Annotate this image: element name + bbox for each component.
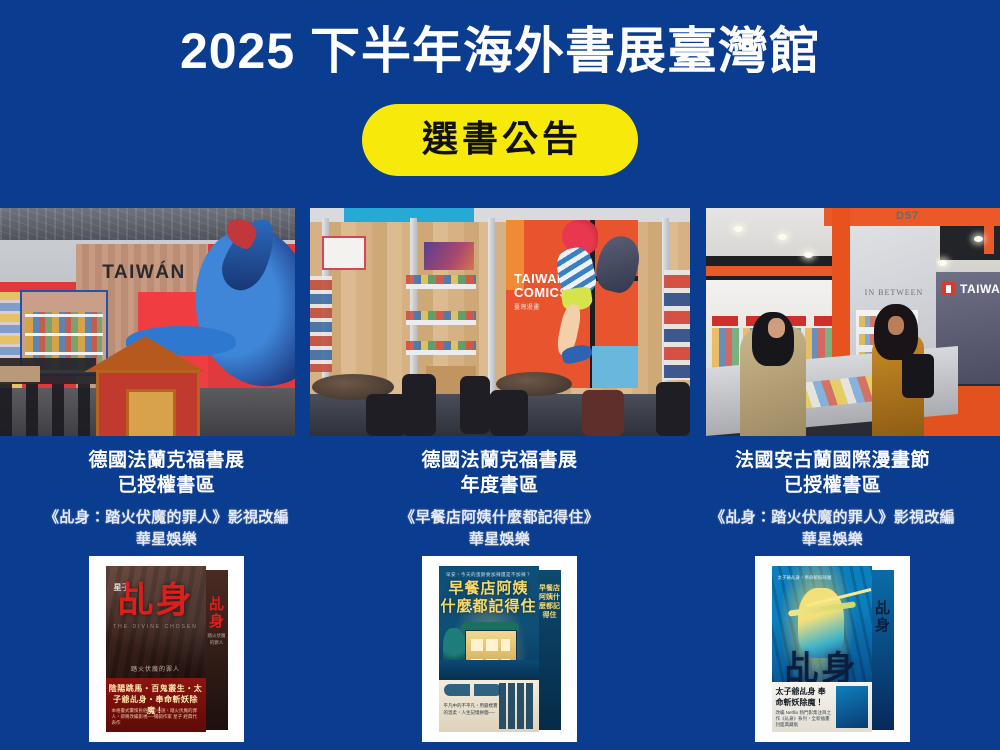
- cover-water: [439, 660, 539, 680]
- publisher-name-1: 華星娛樂: [0, 529, 333, 551]
- booth-chair: [460, 376, 490, 434]
- book-cover-card-3[interactable]: 乩身 太子爺乩身，奉命斬妖除魔 乩身 太子爺乩身 奉命斬妖除魔！ 改編 Netf…: [755, 556, 910, 742]
- obi-thumbnail-3: [836, 686, 868, 728]
- book-spine-3: 乩身: [872, 570, 894, 730]
- booth-chair: [402, 374, 436, 436]
- book-title-line-1: 《乩身：踏火伏魔的罪人》影視改編: [0, 507, 333, 529]
- book-cover-row: 乩身 踏火伏魔的罪人 星子 乩身 THE DIVINE CHOSEN 踏火伏魔的…: [0, 556, 1000, 750]
- spine-title-3: 乩身: [872, 600, 894, 634]
- banner-blue-block: [592, 346, 638, 388]
- publisher-name-2: 華星娛樂: [333, 529, 666, 551]
- ceiling-spotlight: [974, 236, 983, 242]
- book-title-line-1: 早餐店阿姨: [439, 580, 539, 598]
- booth-scene-1: TAIWÁN: [0, 208, 295, 436]
- booth-chair: [490, 390, 528, 436]
- book-header-note-2: 早安，今天的蛋餅要加辣還是不加辣？: [439, 572, 539, 578]
- book-title-line-2: 《早餐店阿姨什麼都記得住》: [333, 507, 666, 529]
- fair-name-line-2: 已授權書區: [666, 473, 999, 498]
- obi-subtext-3: 改編 Netflix 熱門影集注目之作《乩身》系列，全新插畫封面典藏版: [776, 710, 834, 728]
- obi-subtext-1: 本格臺式驚悚民俗奇幻小說，踏火伏魔的罪人，即將改編影視──暢銷作家 星子 經典代…: [112, 708, 200, 726]
- book-spine-1: 乩身 踏火伏魔的罪人: [206, 570, 228, 730]
- book-obi-3: 太子爺乩身 奉命斬妖除魔！ 改編 Netflix 熱門影集注目之作《乩身》系列，…: [772, 682, 872, 732]
- taiwan-comics-sign-sub: 臺灣漫畫: [514, 302, 540, 311]
- in-between-sign: IN BETWEEN: [856, 288, 932, 297]
- ceiling-spotlight: [778, 234, 787, 240]
- book-front-3: 太子爺乩身，奉命斬妖除魔 乩身 太子爺乩身 奉命斬妖除魔！ 改編 Netflix…: [772, 566, 872, 732]
- booth-number-sign: D57: [896, 210, 919, 222]
- booth-scene-3: D57 IN BETWEEN TAIWAN: [706, 208, 1000, 436]
- book-front-1: 星子 乩身 THE DIVINE CHOSEN 踏火伏魔的罪人 陰陽跳馬・百鬼叢…: [106, 566, 206, 732]
- booth-chair: [656, 382, 690, 436]
- book-cover-card-2[interactable]: 早餐店阿姨什麼都記得住 早安，今天的蛋餅要加辣還是不加辣？ 早餐店阿姨 什麼都記…: [422, 556, 577, 742]
- poster-header: 2025 下半年海外書展臺灣館 選書公告: [0, 0, 1000, 200]
- house-roof: [84, 336, 206, 372]
- badge-container: 選書公告: [0, 104, 1000, 176]
- visitor-face: [888, 316, 904, 335]
- shelf-rail: [406, 350, 476, 355]
- book-3d-3: 乩身 太子爺乩身，奉命斬妖除魔 乩身 太子爺乩身 奉命斬妖除魔！ 改編 Netf…: [772, 566, 894, 732]
- taiwan-logo-icon: [942, 282, 955, 295]
- fair-name-line-2: 年度書區: [333, 473, 666, 498]
- spine-title-2: 早餐店阿姨什麼都記得住: [539, 584, 561, 620]
- page-title: 2025 下半年海外書展臺灣館: [0, 22, 1000, 80]
- book-spine-2: 早餐店阿姨什麼都記得住: [539, 570, 561, 730]
- shelf-rail: [25, 314, 103, 317]
- fair-name-line-2: 已授權書區: [0, 473, 333, 498]
- taiwan-booth-sign: TAIWÁN: [84, 262, 204, 284]
- house-door: [126, 389, 176, 436]
- photo-strip: TAIWÁN: [0, 208, 1000, 436]
- obi-badges-2: [444, 684, 502, 696]
- orange-beam: [984, 224, 994, 254]
- cover-window: [486, 639, 498, 651]
- booth-post: [488, 218, 495, 404]
- caption-block-2: 德國法蘭克福書展 年度書區 《早餐店阿姨什麼都記得住》 華星娛樂: [333, 448, 666, 551]
- book-title-line-3: 《乩身：踏火伏魔的罪人》影視改編: [666, 507, 999, 529]
- shelf-comics: [406, 311, 476, 320]
- visitor-face: [768, 318, 785, 338]
- booth-chair: [366, 394, 406, 436]
- book-3d-1: 乩身 踏火伏魔的罪人 星子 乩身 THE DIVINE CHOSEN 踏火伏魔的…: [106, 566, 228, 732]
- cover-window: [471, 639, 483, 651]
- fair-name-line-1: 法國安古蘭國際漫畫節: [666, 448, 999, 473]
- left-magazine-rack: [310, 276, 332, 372]
- book-obi-2: 平凡中的不平凡，用最樸實的溫柔，人生記憶拼圖──: [439, 680, 539, 732]
- caption-row: 德國法蘭克福書展 已授權書區 《乩身：踏火伏魔的罪人》影視改編 華星娛樂 德國法…: [0, 448, 1000, 558]
- booth-chair: [582, 390, 624, 436]
- obi-text-3: 太子爺乩身 奉命斬妖除魔！: [776, 686, 834, 708]
- book-cover-card-1[interactable]: 乩身 踏火伏魔的罪人 星子 乩身 THE DIVINE CHOSEN 踏火伏魔的…: [89, 556, 244, 742]
- wall-poster-purple: [424, 242, 474, 270]
- fair-name-3: 法國安古蘭國際漫畫節 已授權書區: [666, 448, 999, 498]
- book-front-2: 早安，今天的蛋餅要加辣還是不加辣？ 早餐店阿姨 什麼都記得住: [439, 566, 539, 732]
- caption-block-3: 法國安古蘭國際漫畫節 已授權書區 《乩身：踏火伏魔的罪人》影視改編 華星娛樂: [666, 448, 999, 551]
- announcement-badge[interactable]: 選書公告: [362, 104, 638, 176]
- shelf-rail: [406, 284, 476, 289]
- booth-photo-frankfurt-annual[interactable]: TAIWAN COMICS 臺灣漫畫: [310, 208, 690, 436]
- shelf-comics: [406, 341, 476, 350]
- red-house-display: [84, 336, 206, 436]
- right-magazine-rack: [664, 270, 690, 380]
- obi-text-2: 平凡中的不平凡，用最樸實的溫柔，人生記憶拼圖──: [444, 702, 500, 716]
- cover-window: [501, 639, 510, 651]
- fair-name-1: 德國法蘭克福書展 已授權書區: [0, 448, 333, 498]
- orange-beam: [706, 266, 846, 276]
- book-cover-slot-2: 早餐店阿姨什麼都記得住 早安，今天的蛋餅要加辣還是不加辣？ 早餐店阿姨 什麼都記…: [333, 556, 666, 750]
- book-english-title-1: THE DIVINE CHOSEN: [106, 624, 206, 630]
- book-cover-slot-1: 乩身 踏火伏魔的罪人 星子 乩身 THE DIVINE CHOSEN 踏火伏魔的…: [0, 556, 333, 750]
- book-obi-1: 陰陽跳馬・百鬼叢生・太子爺乩身・奉命斬妖除魔！ 本格臺式驚悚民俗奇幻小說，踏火伏…: [106, 678, 206, 732]
- booth-table: [0, 366, 40, 382]
- fair-name-line-1: 德國法蘭克福書展: [0, 448, 333, 473]
- booth-scene-2: TAIWAN COMICS 臺灣漫畫: [310, 208, 690, 436]
- spine-subtitle-1: 踏火伏魔的罪人: [206, 632, 228, 646]
- caption-block-1: 德國法蘭克福書展 已授權書區 《乩身：踏火伏魔的罪人》影視改編 華星娛樂: [0, 448, 333, 551]
- shelf-rail: [406, 320, 476, 325]
- book-title-2: 早餐店阿姨 什麼都記得住: [439, 580, 539, 616]
- book-cover-slot-3: 乩身 太子爺乩身，奉命斬妖除魔 乩身 太子爺乩身 奉命斬妖除魔！ 改編 Netf…: [666, 556, 999, 750]
- wall-poster-small: [322, 236, 366, 270]
- publisher-name-3: 華星娛樂: [666, 529, 999, 551]
- ceiling-spotlight: [938, 260, 947, 266]
- shelf-comics: [406, 275, 476, 284]
- booth-photo-angouleme[interactable]: D57 IN BETWEEN TAIWAN: [706, 208, 1000, 436]
- book-header-note-3: 太子爺乩身，奉命斬妖除魔: [778, 574, 832, 581]
- book-subtitle-1: 踏火伏魔的罪人: [106, 664, 206, 673]
- ceiling-spotlight: [804, 252, 813, 258]
- obi-vertical-text-2: [499, 683, 535, 729]
- spine-title-1: 乩身: [206, 596, 228, 630]
- booth-photo-frankfurt-licensed[interactable]: TAIWÁN: [0, 208, 295, 436]
- book-title-line-2: 什麼都記得住: [439, 598, 539, 616]
- taiwan-banner-sign: TAIWAN: [960, 282, 1000, 296]
- fair-name-line-1: 德國法蘭克福書展: [333, 448, 666, 473]
- house-body: [96, 370, 200, 436]
- ceiling-spotlight: [734, 226, 743, 232]
- book-3d-2: 早餐店阿姨什麼都記得住 早安，今天的蛋餅要加辣還是不加辣？ 早餐店阿姨 什麼都記…: [439, 566, 561, 732]
- fair-name-2: 德國法蘭克福書展 年度書區: [333, 448, 666, 498]
- visitor-bag: [902, 354, 934, 398]
- book-title-1: 乩身: [106, 580, 206, 619]
